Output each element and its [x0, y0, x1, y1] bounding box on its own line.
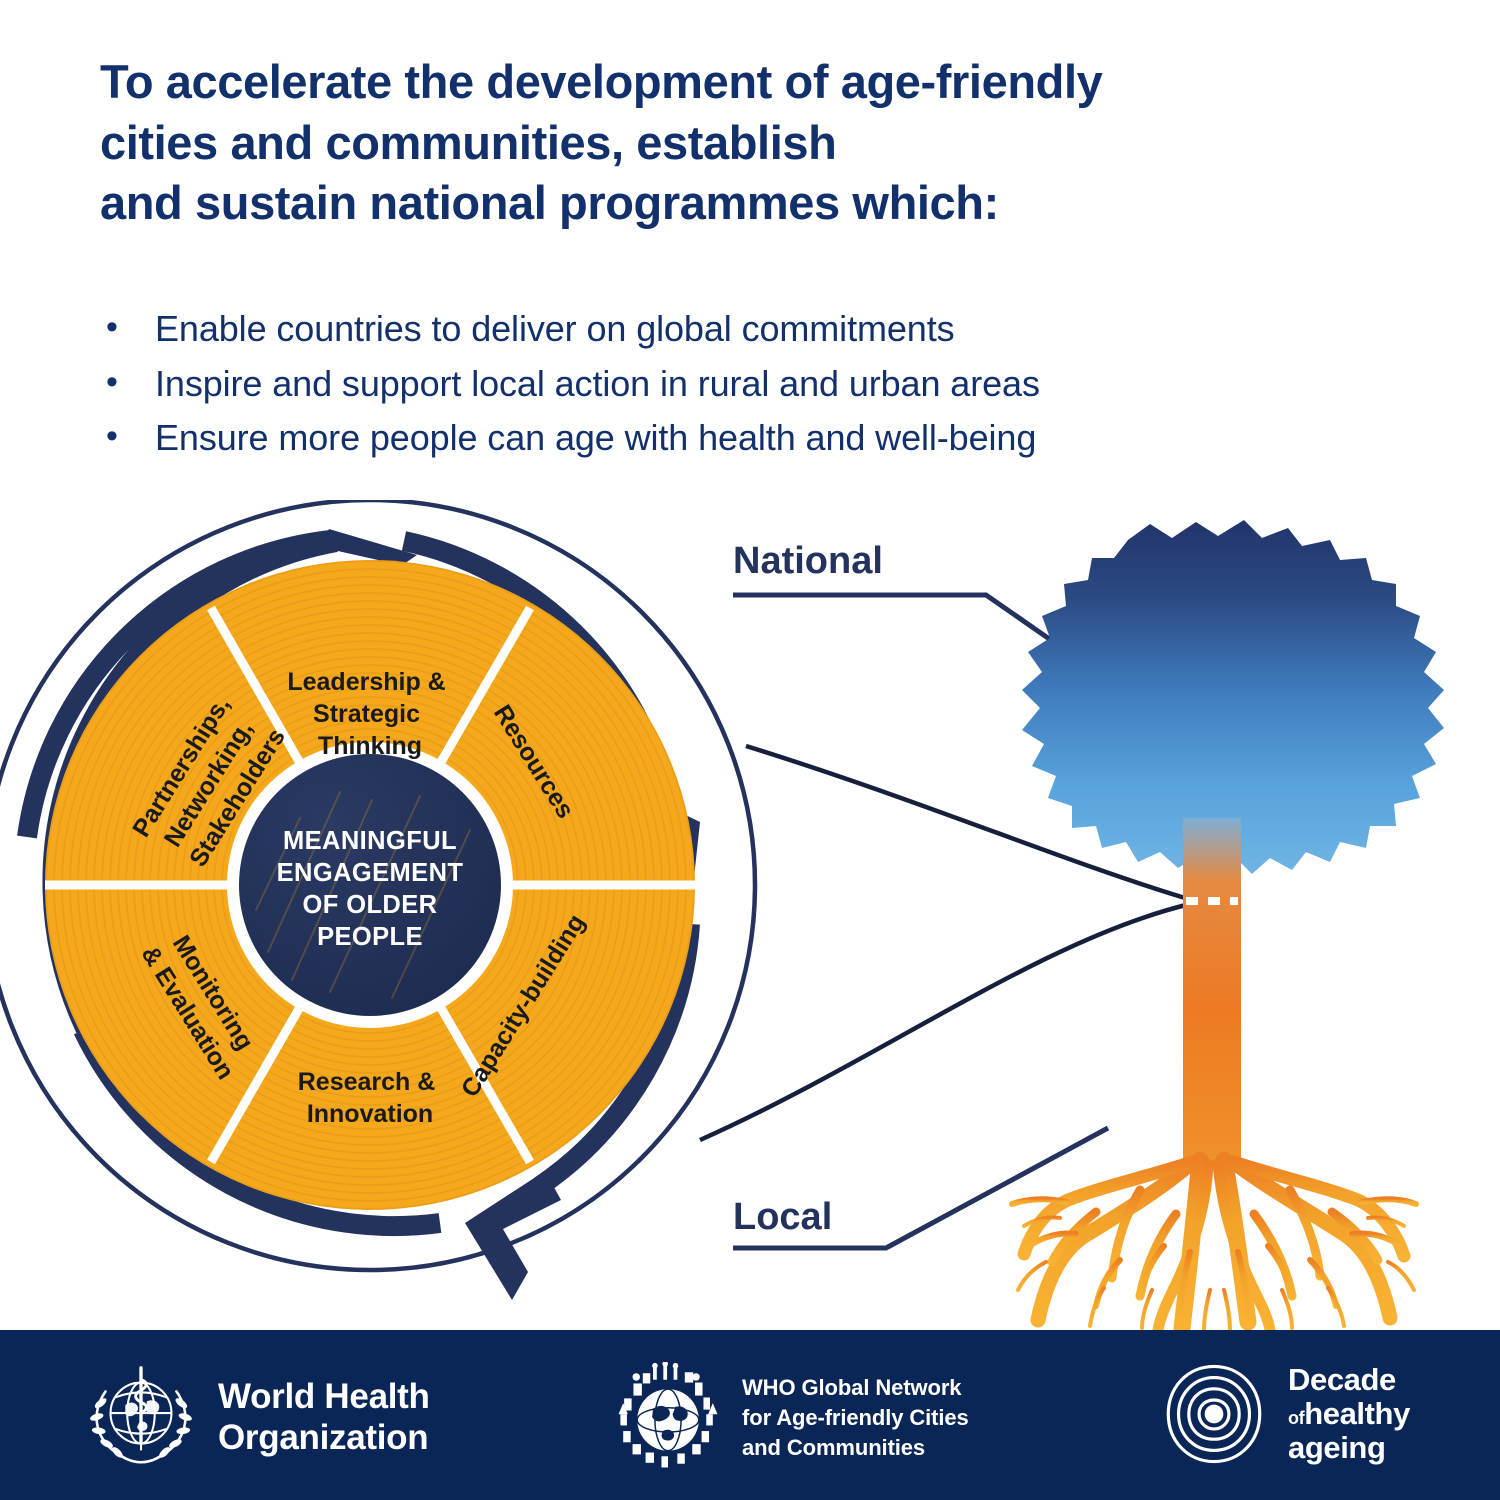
hub-line-1: MEANINGFUL: [283, 827, 457, 855]
global-network-wordmark: WHO Global Network for Age-friendly Citi…: [742, 1373, 969, 1462]
bullet-text: Ensure more people can age with health a…: [155, 411, 1350, 466]
logo-who: World Health Organization: [82, 1358, 430, 1476]
hub-line-4: PEOPLE: [317, 923, 423, 951]
who-emblem-icon: [82, 1358, 200, 1476]
seg-research-l2: Innovation: [307, 1100, 433, 1128]
footer-bar: World Health Organization: [0, 1330, 1500, 1500]
headline-line-1: To accelerate the development of age-fri…: [100, 52, 1440, 113]
hub-line-3: OF OLDER: [303, 891, 438, 919]
bullet-marker-icon: •: [100, 357, 155, 409]
bullet-text: Inspire and support local action in rura…: [155, 357, 1350, 412]
callout-label-national: National: [733, 540, 883, 583]
decade-wordmark: Decade ofhealthy ageing: [1288, 1363, 1410, 1465]
seg-research-l1: Research &: [298, 1068, 436, 1096]
who-line-1: World Health: [218, 1376, 430, 1417]
who-line-2: Organization: [218, 1417, 430, 1458]
list-item: • Inspire and support local action in ru…: [100, 357, 1350, 412]
bullet-text: Enable countries to deliver on global co…: [155, 302, 1350, 357]
seg-leadership-l2: Strategic: [313, 700, 420, 728]
net-line-3: and Communities: [742, 1433, 969, 1463]
list-item: • Enable countries to deliver on global …: [100, 302, 1350, 357]
seg-leadership-l1: Leadership &: [287, 668, 445, 696]
diagram-stage: MEANINGFUL ENGAGEMENT OF OLDER PEOPLE Le…: [0, 500, 1500, 1330]
headline-line-3: and sustain national programmes which:: [100, 173, 1440, 234]
concentric-rings-icon: [1158, 1358, 1270, 1470]
infographic-page: To accelerate the development of age-fri…: [0, 0, 1500, 1500]
seg-leadership-l3: Thinking: [318, 732, 422, 760]
callout-label-local: Local: [733, 1196, 832, 1239]
who-wordmark: World Health Organization: [218, 1376, 430, 1459]
decade-of: of: [1288, 1408, 1304, 1428]
bullet-list: • Enable countries to deliver on global …: [100, 302, 1350, 466]
logo-decade: Decade ofhealthy ageing: [1158, 1358, 1410, 1470]
bullet-marker-icon: •: [100, 302, 155, 354]
net-line-2: for Age-friendly Cities: [742, 1403, 969, 1433]
decade-line-3: ageing: [1288, 1431, 1410, 1465]
decade-line-2: healthy: [1304, 1396, 1410, 1431]
list-item: • Ensure more people can age with health…: [100, 411, 1350, 466]
tree-trunk: [1183, 818, 1241, 1164]
decade-line-1: Decade: [1288, 1363, 1410, 1397]
headline-line-2: cities and communities, establish: [100, 113, 1440, 174]
globe-network-icon: [612, 1362, 724, 1474]
net-line-1: WHO Global Network: [742, 1373, 969, 1403]
logo-global-network: WHO Global Network for Age-friendly Citi…: [612, 1362, 969, 1474]
hub-line-2: ENGAGEMENT: [277, 859, 464, 887]
page-title: To accelerate the development of age-fri…: [100, 52, 1440, 234]
bullet-marker-icon: •: [100, 411, 155, 463]
